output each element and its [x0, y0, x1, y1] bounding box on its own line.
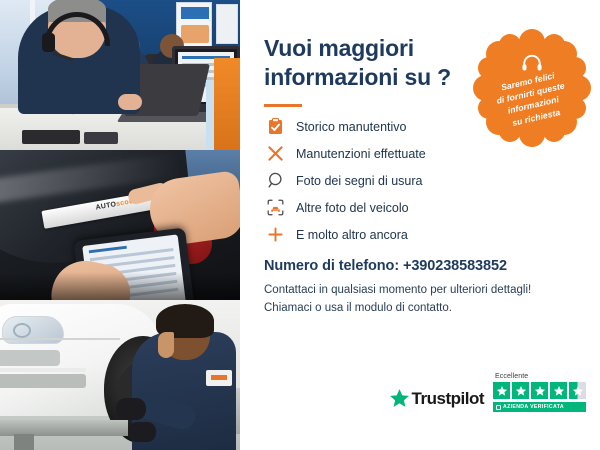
orange-partition — [214, 58, 240, 150]
car-chrome-trim — [0, 368, 86, 372]
trustpilot-logo: Trustpilot — [389, 388, 484, 412]
technician-face — [158, 332, 174, 358]
trustpilot-rating-block[interactable]: Trustpilot Eccellente — [389, 373, 586, 412]
star-5-half — [569, 382, 586, 399]
tools-cross-icon — [264, 145, 286, 163]
verified-badge-icon — [496, 405, 501, 410]
star-2 — [512, 382, 529, 399]
car-grille-lower — [0, 374, 86, 388]
request-info-badge: Saremo felici di fornirti queste informa… — [472, 28, 592, 148]
title-underline-rule — [264, 104, 302, 107]
contact-line-1: Contattaci in qualsiasi momento per ulte… — [264, 282, 574, 300]
star-rating — [493, 382, 586, 399]
page-title: Vuoi maggiori informazioni su ? — [264, 34, 474, 92]
verified-label: AZIENDA VERIFICATA — [503, 404, 564, 410]
wall-poster-secondary — [216, 4, 238, 44]
desk-tablet — [22, 130, 80, 144]
content-panel: Vuoi maggiori informazioni su ? Storico … — [240, 0, 600, 450]
technician-glove-lower — [128, 422, 156, 442]
magnifier-icon — [264, 172, 286, 190]
photo-technician-checking-tyre-on-lift — [0, 300, 240, 450]
feature-label: Manutenzioni effettuate — [296, 148, 426, 161]
trustpilot-wordmark: Trustpilot — [412, 389, 484, 409]
technician-glove-upper — [116, 398, 146, 420]
feature-label: E molto altro ancora — [296, 229, 408, 242]
contact-instructions: Contattaci in qualsiasi momento per ulte… — [264, 282, 574, 318]
desk-notepad — [84, 132, 118, 144]
trustpilot-score-group: Eccellente — [493, 373, 586, 412]
rating-word: Eccellente — [493, 373, 528, 380]
trustpilot-star-icon — [389, 388, 410, 409]
star-1 — [493, 382, 510, 399]
photo-call-center-agents-with-headsets — [0, 0, 240, 150]
car-lift-leg — [14, 434, 34, 450]
star-4 — [550, 382, 567, 399]
photo-column: AUTOscout — [0, 0, 240, 450]
feature-item-foto-segni-usura: Foto dei segni di usura — [264, 172, 574, 190]
headset-icon — [521, 54, 543, 72]
car-grille-upper — [0, 350, 60, 366]
clipboard-check-icon — [264, 118, 286, 136]
phone-number-line[interactable]: Numero di telefono: +390238583852 — [264, 258, 574, 274]
feature-item-molto-altro: E molto altro ancora — [264, 226, 574, 244]
bottom-shadow — [0, 272, 240, 300]
feature-label: Foto dei segni di usura — [296, 175, 422, 188]
contact-line-2: Chiamaci o usa il modulo di contatto. — [264, 300, 574, 318]
car-hood-line — [0, 338, 120, 340]
verified-business-strip: AZIENDA VERIFICATA — [493, 402, 586, 412]
feature-label: Storico manutentivo — [296, 121, 406, 134]
feature-item-altre-foto-veicolo: Altre foto del veicolo — [264, 199, 574, 217]
photo-vehicle-bumper-inspection-with-tablet: AUTOscout — [0, 150, 240, 300]
uniform-logo-patch — [206, 370, 232, 386]
car-scan-icon — [264, 199, 286, 217]
feature-label: Altre foto del veicolo — [296, 202, 409, 215]
foreground-agent-hand — [118, 94, 142, 110]
plus-icon — [264, 226, 286, 244]
star-3 — [531, 382, 548, 399]
promo-banner: AUTOscout — [0, 0, 600, 450]
headset-earcup — [42, 33, 55, 52]
